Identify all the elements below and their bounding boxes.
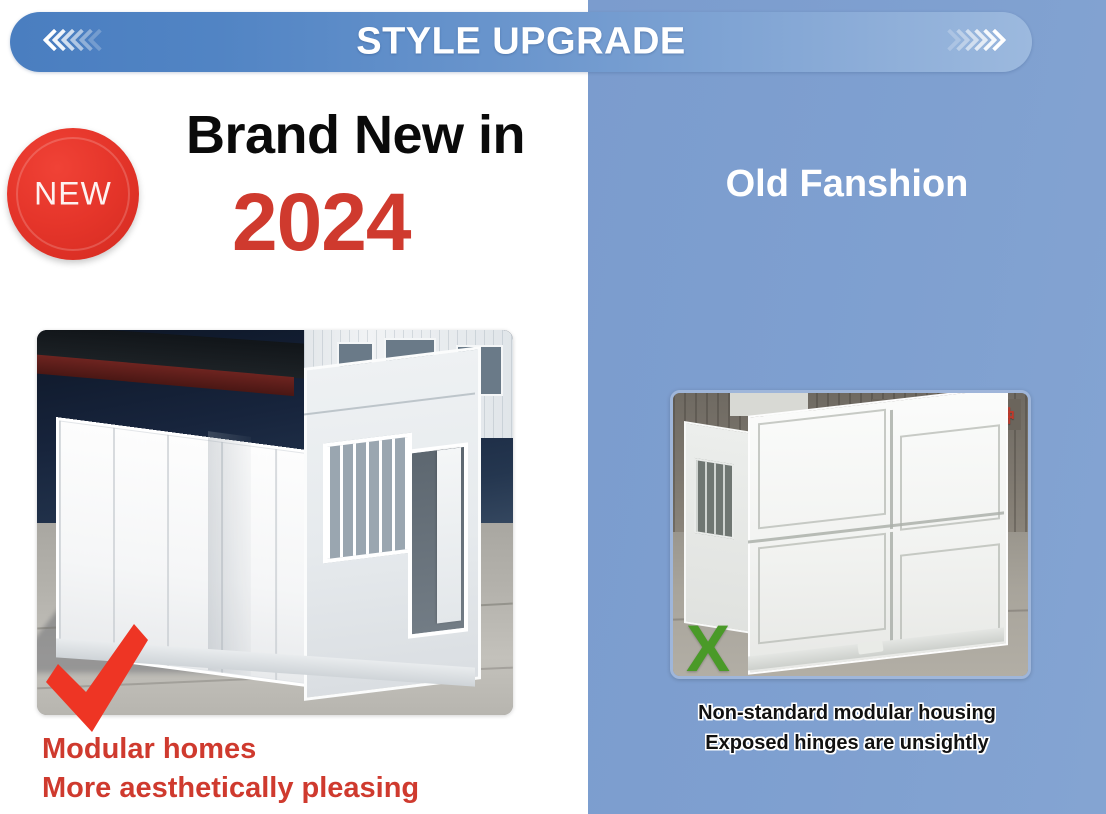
right-headline: Old Fanshion [588,163,1106,206]
chevrons-right-icon [942,25,996,59]
left-caption: Modular homes More aesthetically pleasin… [42,730,419,807]
new-badge-label: NEW [7,176,139,213]
right-caption-line2: Exposed hinges are unsightly [588,728,1106,758]
left-headline-line1: Brand New in [186,104,525,166]
style-upgrade-poster: STYLE UPGRADE NEW Brand New in 2024 Old … [0,0,1106,814]
left-caption-line2: More aesthetically pleasing [42,769,419,808]
new-modular-container-house-photo [37,330,513,715]
banner-title: STYLE UPGRADE [10,21,1032,64]
left-caption-line1: Modular homes [42,730,419,769]
right-caption-line1: Non-standard modular housing [588,698,1106,728]
left-headline-line2: 2024 [232,176,410,270]
right-caption: Non-standard modular housing Exposed hin… [588,698,1106,758]
header-banner: STYLE UPGRADE [10,12,1032,72]
x-mark-icon: X [686,615,730,681]
new-badge: NEW [7,128,139,260]
